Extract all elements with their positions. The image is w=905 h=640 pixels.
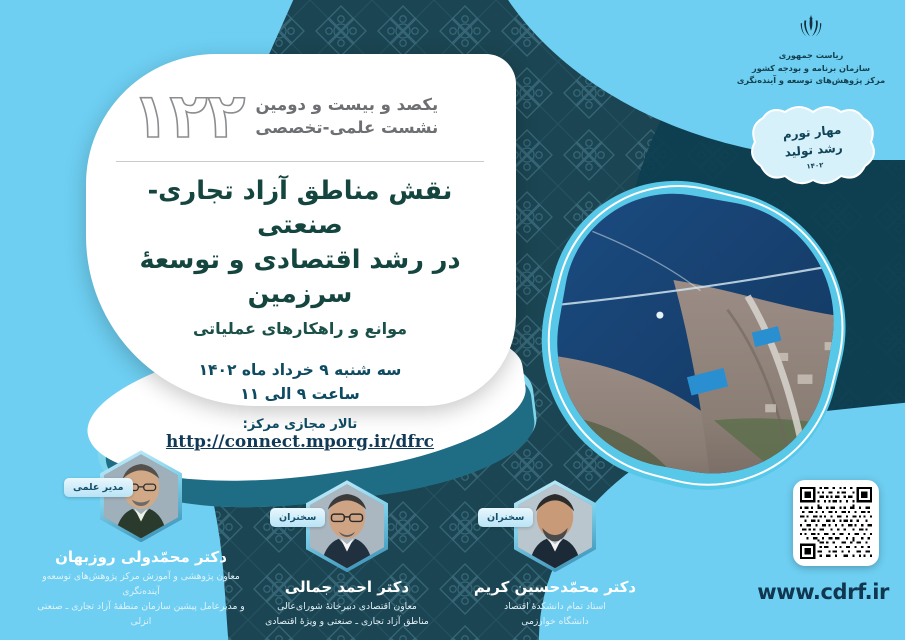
speaker-card-2: سخنران دکتر احمد جمالی معاون اقتصادی دبی…: [232, 480, 462, 630]
speaker-role-badge-3: مدیر علمی: [64, 478, 133, 497]
speaker-affiliation-3a: معاون پژوهشی و آموزش مرکز پژوهش‌های توسع…: [26, 570, 256, 600]
website-url[interactable]: www.cdrf.ir: [757, 580, 889, 604]
gov-line-2: سازمان برنامه و بودجه کشور: [731, 62, 891, 75]
session-sequence: یکصد و بیست و دومین نشست علمی-تخصصی ۱۲۲: [110, 80, 490, 152]
speaker-affiliation-3b: و مدیرعامل پیشین سازمان منطقهٔ آزاد تجار…: [26, 600, 256, 630]
speaker-role-badge-2: سخنران: [270, 508, 325, 527]
speaker-affiliation-2b: مناطق آزاد تجاری ـ صنعتی و ویژهٔ اقتصادی: [232, 615, 462, 630]
virtual-hall-label: تالار مجازی مرکز:: [110, 417, 490, 432]
session-subtitle: موانع و راهکارهای عملیاتی: [110, 319, 490, 338]
gov-line-1: ریاست جمهوری: [731, 49, 891, 62]
session-ordinal-line-1: یکصد و بیست و دومین: [255, 93, 438, 116]
session-time: ساعت ۹ الی ۱۱: [110, 382, 490, 406]
session-number: ۱۲۲: [132, 87, 246, 146]
speaker-affiliation-1b: دانشگاه خوارزمی: [440, 615, 670, 630]
session-date: سه شنبه ۹ خرداد ماه ۱۴۰۲: [110, 358, 490, 382]
session-ordinal-line-2: نشست علمی-تخصصی: [255, 116, 438, 139]
iran-emblem-icon: [796, 12, 826, 42]
speaker-card-3: مدیر علمی دکتر محمّدولی روزبهان معاون پژ…: [26, 450, 256, 630]
year-slogan-logo: مهار تورم رشد تولید ۱۴۰۲: [745, 104, 881, 190]
gov-line-3: مرکز پژوهش‌های توسعه و آینده‌نگری: [731, 74, 891, 87]
event-poster: ریاست جمهوری سازمان برنامه و بودجه کشور …: [0, 0, 905, 640]
speaker-name-1: دکتر محمّدحسین کریم: [440, 578, 670, 596]
speaker-role-badge-1: سخنران: [478, 508, 533, 527]
speaker-photo-frame-3: مدیر علمی: [100, 450, 182, 542]
qr-code[interactable]: [793, 480, 879, 566]
session-title-line-2: در رشد اقتصادی و توسعهٔ سرزمین: [110, 243, 490, 312]
session-title-line-1: نقش مناطق آزاد تجاری-صنعتی: [110, 174, 490, 243]
main-info-card: یکصد و بیست و دومین نشست علمی-تخصصی ۱۲۲ …: [86, 54, 516, 406]
divider: [116, 161, 484, 162]
speakers-section: سخنران دکتر محمّدحسین کریم استاد تمام دا…: [0, 440, 680, 640]
qr-code-icon: [800, 487, 872, 559]
speaker-photo-frame-1: سخنران: [514, 480, 596, 572]
government-logo: ریاست جمهوری سازمان برنامه و بودجه کشور …: [731, 12, 891, 87]
speaker-affiliation-1a: استاد تمام دانشکدهٔ اقتصاد: [440, 600, 670, 615]
speaker-card-1: سخنران دکتر محمّدحسین کریم استاد تمام دا…: [440, 480, 670, 630]
speaker-photo-frame-2: سخنران: [306, 480, 388, 572]
speaker-name-2: دکتر احمد جمالی: [232, 578, 462, 596]
speaker-affiliation-2a: معاون اقتصادی دبیرخانهٔ شورای‌عالی: [232, 600, 462, 615]
speaker-name-3: دکتر محمّدولی روزبهان: [26, 548, 256, 566]
